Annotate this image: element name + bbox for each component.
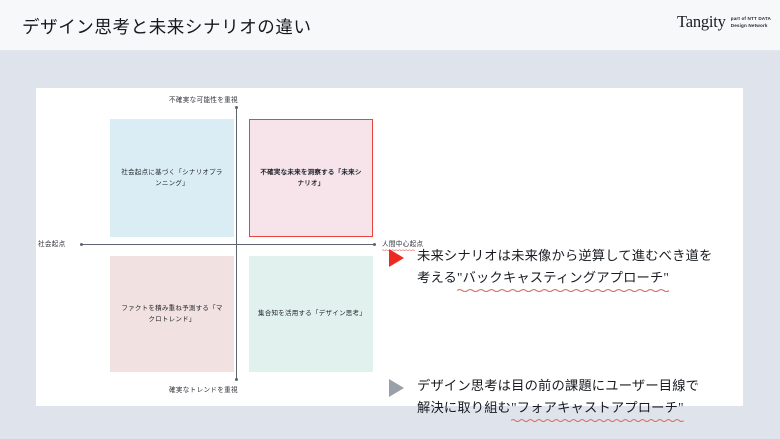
slide-header: デザイン思考と未来シナリオの違い Tangity part of NTT DAT…	[0, 0, 780, 51]
vertical-axis-line	[236, 108, 237, 380]
page-title: デザイン思考と未来シナリオの違い	[22, 14, 312, 39]
callout-1-emphasis-text: "バックキャスティングアプローチ"	[457, 270, 669, 285]
axis-label-left: 社会起点	[38, 238, 66, 248]
logo-tagline-line2: Design Network	[731, 23, 768, 28]
quadrant-bottom-right-label: 集合知を活用する「デザイン思考」	[258, 308, 364, 319]
brand-logo: Tangity part of NTT DATA Design Network	[677, 12, 771, 31]
content-card: 不確実な可能性を重視 確実なトレンドを重視 社会起点 人間中心起点 社会起点に基…	[36, 88, 743, 406]
callout-2-line-2: 解決に取り組む"フォアキャストアプローチ"	[417, 397, 699, 419]
axis-endpoint-top-dot	[235, 106, 238, 109]
quadrant-top-right[interactable]: 不確実な未来を洞察する「未来シナリオ」	[249, 119, 373, 237]
axis-label-top: 不確実な可能性を重視	[169, 94, 238, 104]
callout-1-line-2-plain: 考える	[417, 270, 457, 285]
horizontal-axis-line	[82, 244, 376, 245]
quadrant-bottom-right[interactable]: 集合知を活用する「デザイン思考」	[249, 256, 373, 372]
callout-future-scenario-text: 未来シナリオは未来像から逆算して進むべき道を 考える"バックキャスティングアプロ…	[417, 245, 712, 288]
logo-wordmark: Tangity	[677, 12, 726, 31]
callout-2-emphasis: "フォアキャストアプローチ"	[511, 397, 684, 419]
callout-2-line-1: デザイン思考は目の前の課題にユーザー目線で	[417, 375, 699, 397]
axis-endpoint-bottom-dot	[235, 378, 238, 381]
axis-endpoint-left-dot	[80, 243, 83, 246]
callout-design-thinking: デザイン思考は目の前の課題にユーザー目線で 解決に取り組む"フォアキャストアプロ…	[389, 375, 699, 418]
callout-1-emphasis: "バックキャスティングアプローチ"	[457, 267, 669, 289]
callout-2-line-2-plain: 解決に取り組む	[417, 400, 511, 415]
callout-1-line-1: 未来シナリオは未来像から逆算して進むべき道を	[417, 245, 712, 267]
callout-1-line-2: 考える"バックキャスティングアプローチ"	[417, 267, 712, 289]
axis-label-bottom: 確実なトレンドを重視	[169, 384, 238, 394]
callout-future-scenario: 未来シナリオは未来像から逆算して進むべき道を 考える"バックキャスティングアプロ…	[389, 245, 712, 288]
quadrant-matrix: 不確実な可能性を重視 確実なトレンドを重視 社会起点 人間中心起点 社会起点に基…	[74, 88, 379, 396]
callout-design-thinking-text: デザイン思考は目の前の課題にユーザー目線で 解決に取り組む"フォアキャストアプロ…	[417, 375, 699, 418]
axis-endpoint-right-dot	[373, 243, 376, 246]
quadrant-top-left-label: 社会起点に基づく「シナリオプランニング」	[119, 167, 225, 190]
quadrant-top-right-label: 不確実な未来を洞察する「未来シナリオ」	[259, 167, 363, 190]
quadrant-top-left[interactable]: 社会起点に基づく「シナリオプランニング」	[110, 119, 234, 237]
logo-tagline: part of NTT DATA Design Network	[731, 12, 771, 29]
callout-2-emphasis-text: "フォアキャストアプローチ"	[511, 400, 684, 415]
quadrant-bottom-left[interactable]: ファクトを積み重ね予測する「マクロトレンド」	[110, 256, 234, 372]
spellcheck-squiggle-icon	[457, 288, 669, 292]
slide-root: デザイン思考と未来シナリオの違い Tangity part of NTT DAT…	[0, 0, 780, 439]
quadrant-bottom-left-label: ファクトを積み重ね予測する「マクロトレンド」	[119, 303, 225, 326]
triangle-right-gray-icon	[389, 379, 404, 397]
logo-tagline-line1: part of NTT DATA	[731, 16, 771, 21]
triangle-right-red-icon	[389, 249, 404, 267]
